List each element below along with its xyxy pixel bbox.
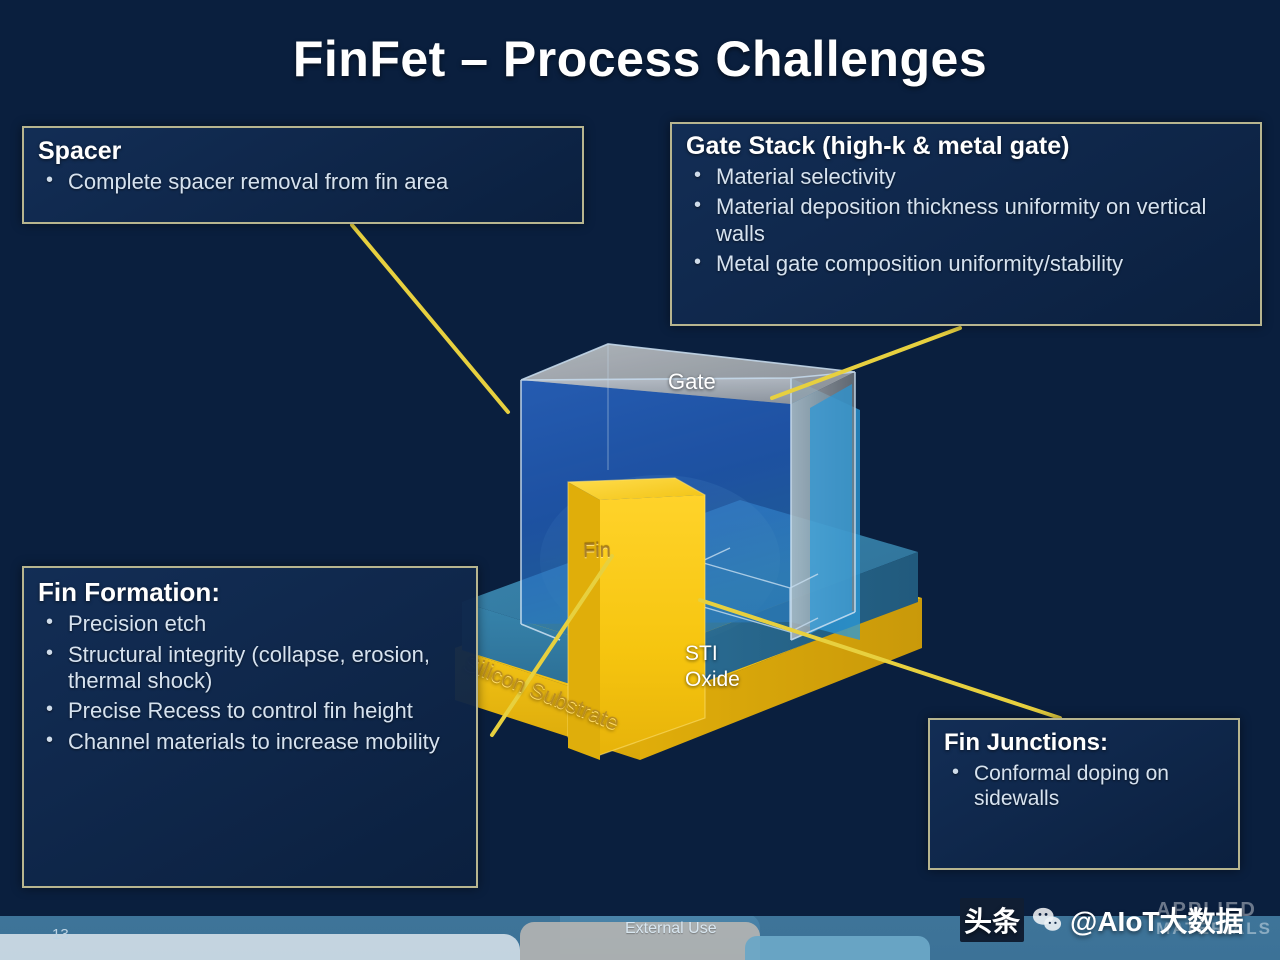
bullet-item: Conformal doping on sidewalls: [944, 761, 1226, 811]
bullet-item: Structural integrity (collapse, erosion,…: [38, 642, 464, 695]
fin-shape: [568, 478, 705, 760]
callout-fin-formation: Fin Formation: Precision etch Structural…: [22, 566, 478, 888]
watermark-badge: 头条: [960, 898, 1024, 942]
callout-spacer: Spacer Complete spacer removal from fin …: [22, 126, 584, 224]
bullet-item: Complete spacer removal from fin area: [38, 169, 568, 195]
footer-external-use-label: External Use: [625, 920, 717, 938]
bullet-item: Material deposition thickness uniformity…: [686, 194, 1248, 247]
callout-fin-formation-bullets: Precision etch Structural integrity (col…: [38, 611, 464, 755]
callout-spacer-bullets: Complete spacer removal from fin area: [38, 169, 568, 195]
callout-gate-stack-heading: Gate Stack (high-k & metal gate): [686, 132, 1248, 160]
callout-spacer-heading: Spacer: [38, 137, 568, 165]
slide-canvas: FinFet – Process Challenges: [0, 0, 1280, 960]
footer-shape-left: [0, 934, 520, 960]
wechat-icon: [1032, 905, 1062, 935]
callout-fin-junctions-bullets: Conformal doping on sidewalls: [944, 761, 1226, 811]
leader-line-gate-stack: [772, 328, 960, 398]
bullet-item: Material selectivity: [686, 164, 1248, 190]
callout-fin-formation-heading: Fin Formation:: [38, 578, 464, 607]
leader-line-spacer: [352, 225, 508, 412]
bullet-item: Precise Recess to control fin height: [38, 698, 464, 724]
callout-fin-junctions-heading: Fin Junctions:: [944, 730, 1226, 757]
bullet-item: Precision etch: [38, 611, 464, 637]
watermark: 头条 @AIoT大数据: [960, 898, 1244, 942]
page-number: 13: [52, 926, 69, 943]
bullet-item: Metal gate composition uniformity/stabil…: [686, 251, 1248, 277]
footer-shape-right: [745, 936, 930, 960]
callout-fin-junctions: Fin Junctions: Conformal doping on sidew…: [928, 718, 1240, 870]
callout-gate-stack-bullets: Material selectivity Material deposition…: [686, 164, 1248, 278]
bullet-item: Channel materials to increase mobility: [38, 729, 464, 755]
callout-gate-stack: Gate Stack (high-k & metal gate) Materia…: [670, 122, 1262, 326]
watermark-handle: @AIoT大数据: [1070, 900, 1244, 940]
